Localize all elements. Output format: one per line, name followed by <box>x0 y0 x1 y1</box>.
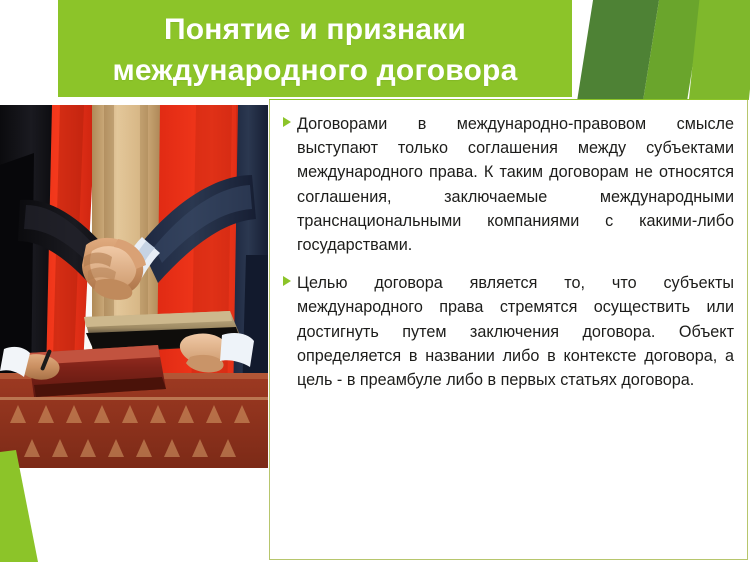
decorative-green-bands <box>560 0 750 100</box>
content-panel: Договорами в международно-правовом смысл… <box>269 100 748 560</box>
slide-title-line-1: Понятие и признаки <box>164 9 466 50</box>
slide-title-line-2: международного договора <box>113 50 518 91</box>
triangle-bullet-icon <box>277 276 297 286</box>
decorative-green-wedge <box>0 450 60 562</box>
slide-title-block: Понятие и признаки международного догово… <box>58 0 572 97</box>
handshake-signing-ceremony-photo <box>0 105 268 468</box>
band-light <box>688 0 750 100</box>
triangle-bullet-icon <box>277 117 297 127</box>
bullet-text: Целью договора является то, что субъекты… <box>297 271 738 392</box>
bullet-text: Договорами в международно-правовом смысл… <box>297 112 738 257</box>
bullet-item: Целью договора является то, что субъекты… <box>274 271 738 392</box>
bullet-item: Договорами в международно-правовом смысл… <box>274 112 738 257</box>
slide-canvas: Понятие и признаки международного догово… <box>0 0 750 562</box>
